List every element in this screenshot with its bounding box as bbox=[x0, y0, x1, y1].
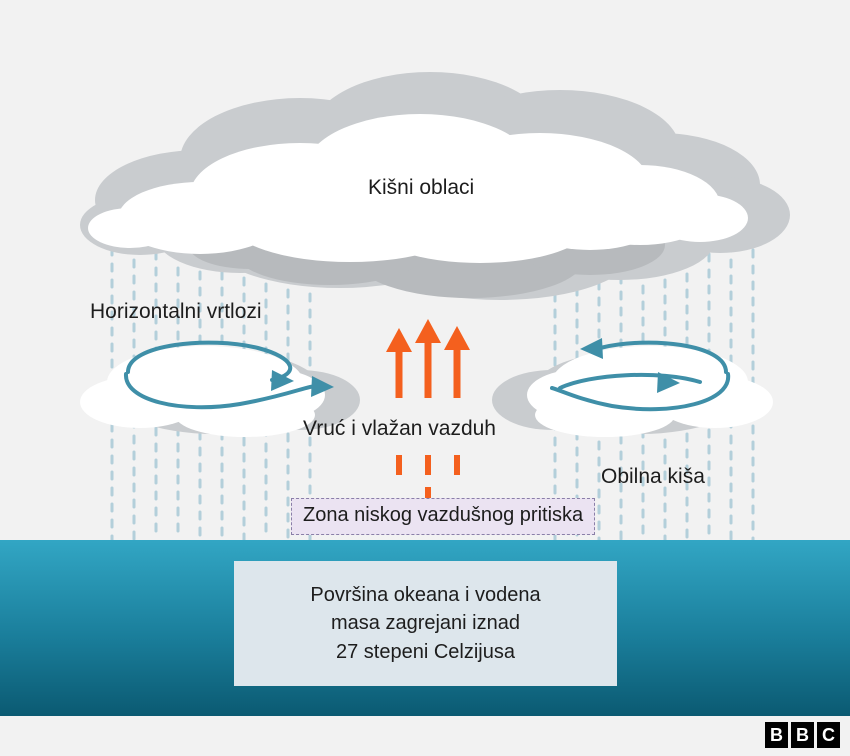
label-heavy-rain: Obilna kiša bbox=[601, 465, 705, 489]
ocean-callout-line-2: masa zagrejani iznad bbox=[331, 609, 520, 637]
label-rain-clouds: Kišni oblaci bbox=[368, 176, 474, 200]
bbc-logo: B B C bbox=[765, 722, 840, 748]
infographic-root: Osnovni elementi uragana bbox=[0, 0, 850, 756]
ocean-callout-line-1: Površina okeana i vodena bbox=[310, 581, 540, 609]
bbc-logo-letter-1: B bbox=[765, 722, 788, 748]
bbc-logo-letter-2: B bbox=[791, 722, 814, 748]
label-horizontal-vortices: Horizontalni vrtlozi bbox=[90, 300, 262, 324]
bbc-logo-letter-3: C bbox=[817, 722, 840, 748]
label-low-pressure-zone: Zona niskog vazdušnog pritiska bbox=[291, 498, 595, 535]
ocean-surface-callout: Površina okeana i vodena masa zagrejani … bbox=[234, 561, 617, 686]
ocean-callout-line-3: 27 stepeni Celzijusa bbox=[336, 638, 515, 666]
label-hot-humid-air: Vruć i vlažan vazduh bbox=[303, 417, 496, 441]
